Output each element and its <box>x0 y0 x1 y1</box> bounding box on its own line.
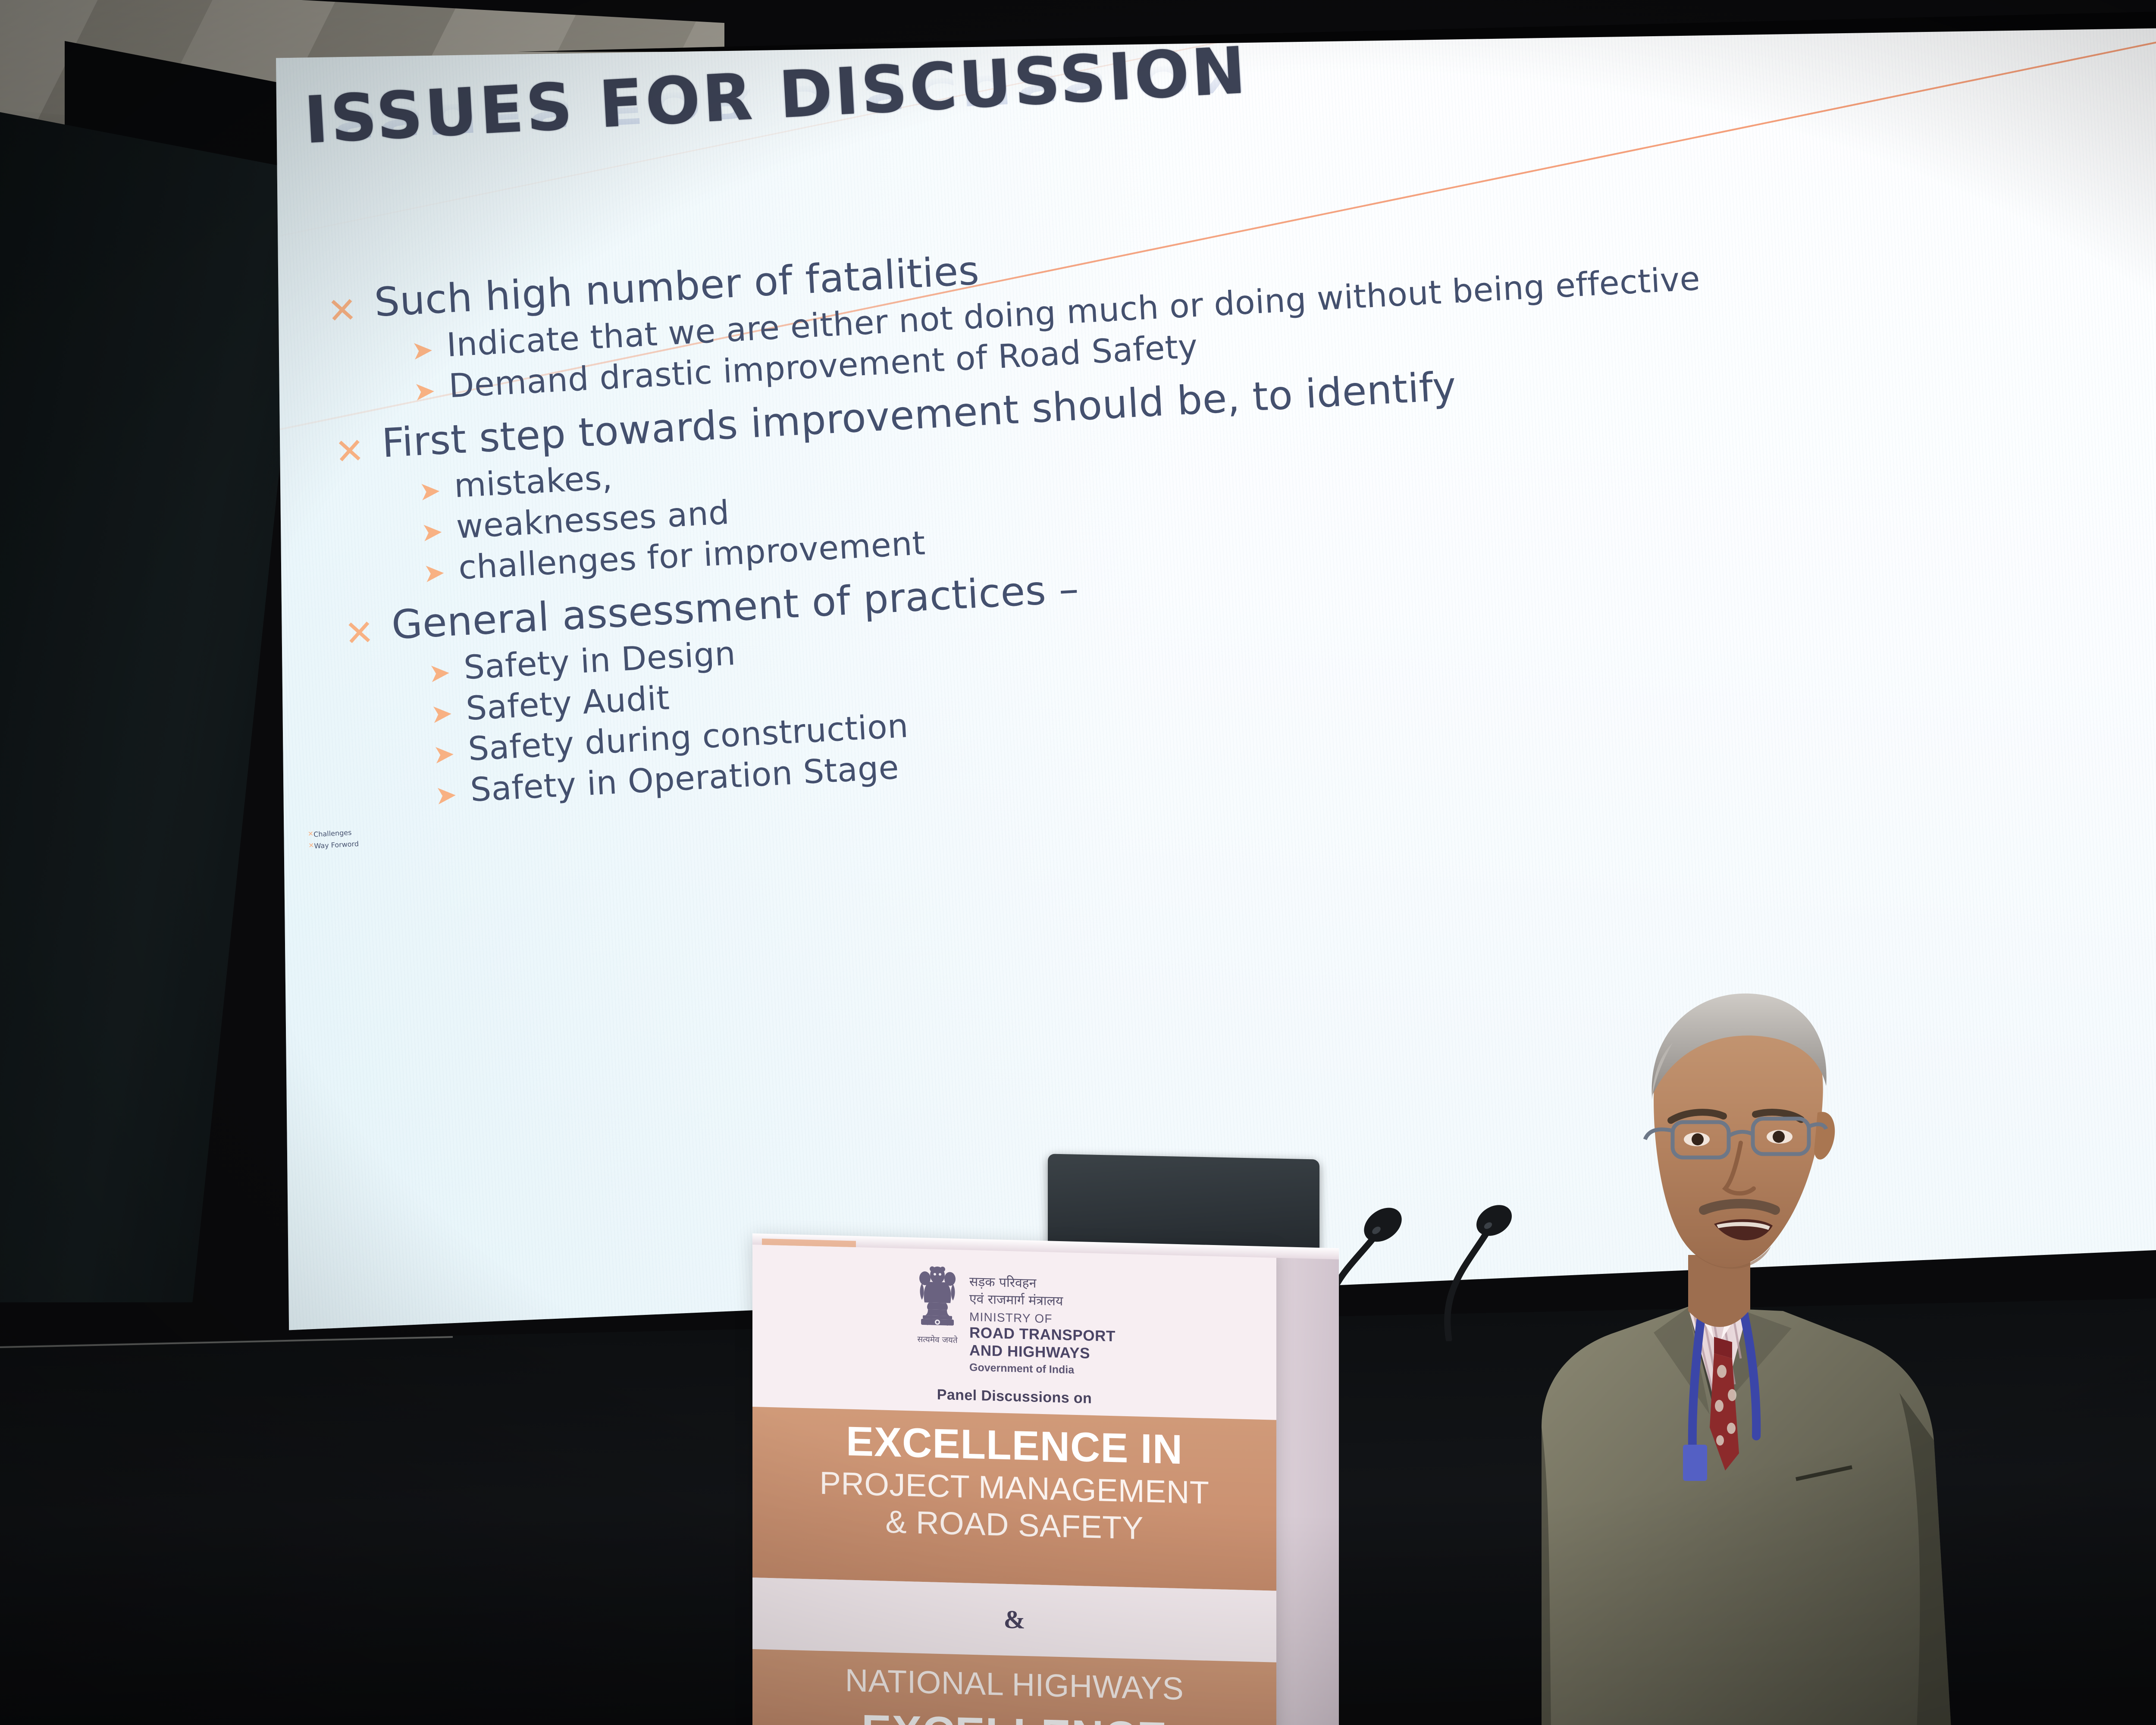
event-banner: सत्यमेव जयते सड़क परिवहन एवं राजमार्ग मं… <box>752 1245 1276 1725</box>
presenter-person <box>1412 970 1990 1725</box>
ministry-name-line2: AND HIGHWAYS <box>969 1342 1116 1363</box>
ministry-text-block: सड़क परिवहन एवं राजमार्ग मंत्रालय MINIST… <box>969 1262 1116 1377</box>
bullet-cross-icon: ✕ <box>333 421 383 470</box>
suit-jacket <box>1542 1307 1951 1725</box>
bullet-arrow-icon: ➤ <box>418 467 455 505</box>
ashoka-emblem-icon: सत्यमेव जयते <box>913 1261 962 1334</box>
bullet-cross-icon: ✕ <box>343 603 393 652</box>
bullet-cross-icon: ✕ <box>307 830 313 837</box>
left-dark-wall <box>0 112 310 1302</box>
bullet-arrow-icon: ➤ <box>420 508 457 546</box>
bullet-arrow-icon: ➤ <box>413 367 450 405</box>
head <box>1645 994 1835 1269</box>
bullet-arrow-icon: ➤ <box>428 649 465 687</box>
auditorium-scene: ISSUES FOR DISCUSSION ISSUES FOR DISCUSS… <box>0 0 2156 1725</box>
slide-bullet-list: ✕ Such high number of fatalities ➤ Indic… <box>279 173 2156 850</box>
gooseneck-microphone-right <box>1448 1231 1488 1339</box>
bullet-arrow-icon: ➤ <box>411 326 448 364</box>
podium: सत्यमेव जयते सड़क परिवहन एवं राजमार्ग मं… <box>752 1216 1337 1725</box>
bullet-cross-icon: ✕ <box>326 280 376 329</box>
podium-side-panel <box>1274 1248 1339 1725</box>
bullet-arrow-icon: ➤ <box>432 731 469 768</box>
bullet-cross-icon: ✕ <box>308 842 314 849</box>
ministry-logo-block: सत्यमेव जयते सड़क परिवहन एवं राजमार्ग मं… <box>752 1257 1276 1382</box>
badge <box>1683 1445 1707 1481</box>
emblem-motto-text: सत्यमेव जयते <box>917 1333 957 1345</box>
bullet-arrow-icon: ➤ <box>434 772 471 809</box>
ministry-hindi-line2: एवं राजमार्ग मंत्रालय <box>969 1290 1116 1311</box>
bullet-text: Way Forword <box>314 840 359 850</box>
bullet-arrow-icon: ➤ <box>422 549 459 586</box>
bullet-arrow-icon: ➤ <box>430 690 467 727</box>
